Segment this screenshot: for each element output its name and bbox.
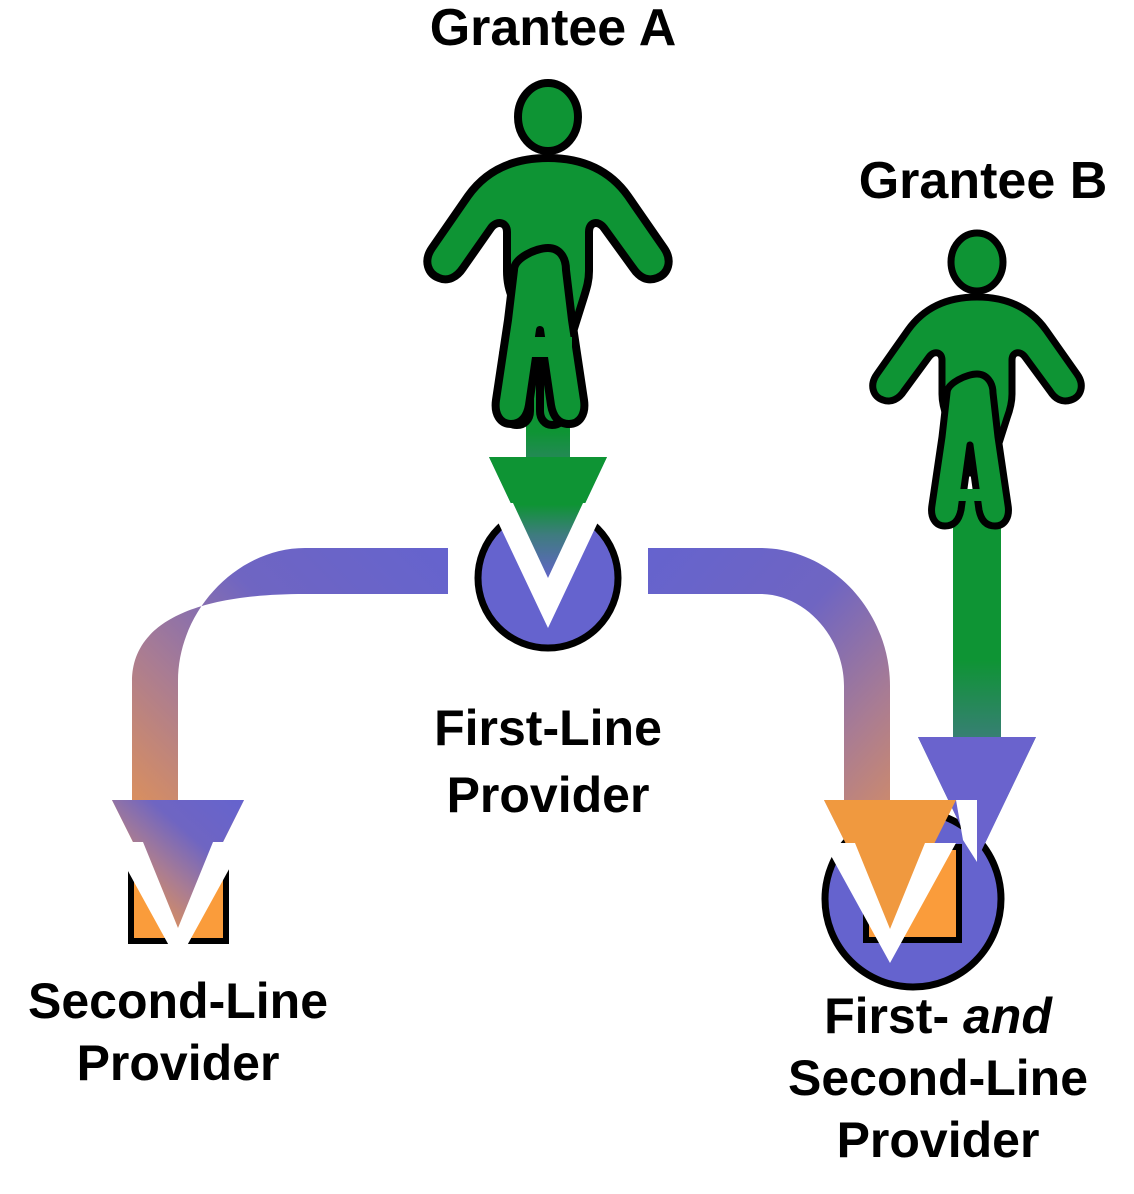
- label-first-and-second-line-provider-line1: First- and: [824, 988, 1053, 1044]
- label-part-first: First-: [824, 988, 963, 1044]
- person-icon-grantee-a: [427, 83, 668, 425]
- label-first-and-second-line-provider-line3: Provider: [837, 1112, 1040, 1168]
- label-part-and: and: [963, 988, 1053, 1044]
- person-icon-grantee-a-base: [524, 337, 572, 351]
- label-second-line-provider-line1: Second-Line: [28, 973, 328, 1029]
- label-first-and-second-line-provider-line2: Second-Line: [788, 1050, 1088, 1106]
- diagram-canvas: Grantee A Grantee B First-Line Provider …: [0, 0, 1134, 1194]
- person-icon-grantee-b: [873, 233, 1082, 526]
- label-grantee-b: Grantee B: [859, 152, 1108, 210]
- label-grantee-a: Grantee A: [430, 0, 677, 57]
- label-second-line-provider-line2: Provider: [77, 1035, 280, 1091]
- provider-flow-diagram: Grantee A Grantee B First-Line Provider …: [0, 0, 1134, 1194]
- label-first-line-provider-line2: Provider: [447, 767, 650, 823]
- label-first-line-provider-line1: First-Line: [434, 700, 662, 756]
